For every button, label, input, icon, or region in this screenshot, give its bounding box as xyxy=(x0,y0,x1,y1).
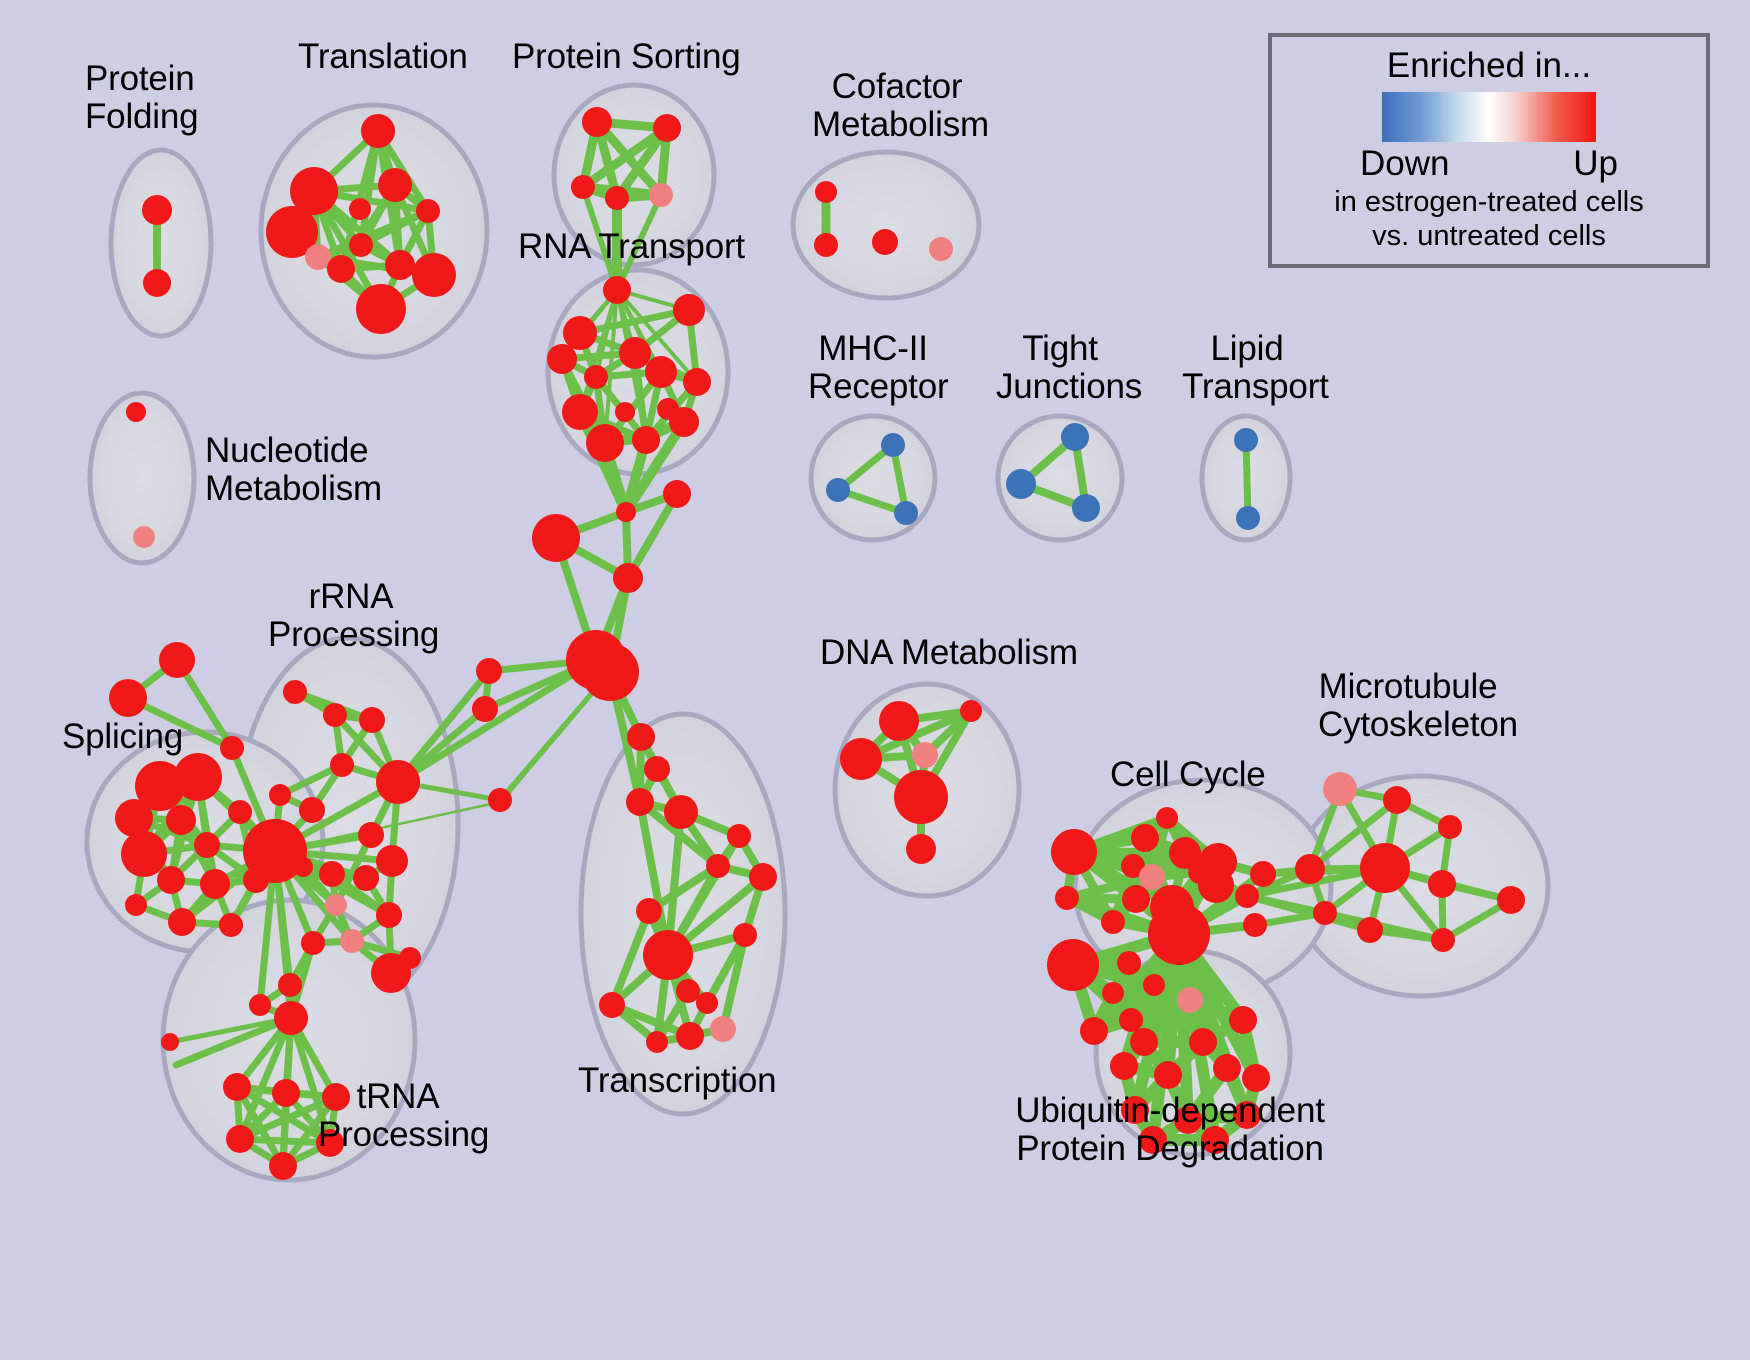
node xyxy=(143,269,171,297)
node xyxy=(894,770,948,824)
cluster-label-cofactor-metabolism: Cofactor Metabolism xyxy=(812,68,982,144)
node xyxy=(125,894,147,916)
node xyxy=(619,337,651,369)
node xyxy=(1130,1028,1158,1056)
node xyxy=(879,701,919,741)
hull-mhc xyxy=(811,416,935,540)
node xyxy=(626,788,654,816)
node xyxy=(1236,506,1260,530)
legend-endpoints: Down Up xyxy=(1360,144,1618,184)
node xyxy=(378,168,412,202)
node xyxy=(269,1152,297,1180)
cluster-label-tight-junctions: Tight Junctions xyxy=(996,330,1124,406)
node xyxy=(327,255,355,283)
cluster-label-mhc-ii-receptor: MHC-II Receptor xyxy=(808,330,938,406)
node xyxy=(814,233,838,257)
node xyxy=(727,824,751,848)
node xyxy=(1250,861,1276,887)
node xyxy=(532,514,580,562)
cluster-label-lipid-transport: Lipid Transport xyxy=(1182,330,1312,406)
cluster-label-translation: Translation xyxy=(298,38,468,76)
node xyxy=(1234,428,1258,452)
node xyxy=(159,642,195,678)
node xyxy=(872,229,898,255)
node xyxy=(657,398,679,420)
node xyxy=(1156,807,1178,829)
node xyxy=(340,929,364,953)
node xyxy=(1177,987,1203,1013)
node xyxy=(1497,886,1525,914)
node xyxy=(710,1016,736,1042)
node xyxy=(649,183,673,207)
node xyxy=(1295,854,1325,884)
node xyxy=(646,1031,668,1053)
node xyxy=(1110,1052,1138,1080)
node xyxy=(412,253,456,297)
node xyxy=(272,1079,300,1107)
legend-panel: Enriched in... Down Up in estrogen-treat… xyxy=(1268,33,1710,268)
node xyxy=(1383,786,1411,814)
node xyxy=(581,643,639,701)
node xyxy=(1360,843,1410,893)
node xyxy=(1198,867,1234,903)
node xyxy=(356,284,406,334)
node xyxy=(109,679,147,717)
node xyxy=(1189,1028,1217,1056)
node xyxy=(1055,886,1079,910)
node xyxy=(142,195,172,225)
node xyxy=(361,114,395,148)
node xyxy=(488,788,512,812)
node xyxy=(840,738,882,780)
legend-title: Enriched in... xyxy=(1387,46,1591,86)
legend-colorbar xyxy=(1382,92,1596,142)
node xyxy=(385,250,415,280)
node xyxy=(1117,951,1141,975)
node xyxy=(301,931,325,955)
node xyxy=(894,501,918,525)
node xyxy=(1242,1064,1270,1092)
node xyxy=(1438,815,1462,839)
legend-high-label: Up xyxy=(1573,144,1618,184)
cluster-label-splicing: Splicing xyxy=(62,718,183,756)
node xyxy=(283,680,307,704)
node xyxy=(676,979,700,1003)
node xyxy=(696,992,718,1014)
node xyxy=(1313,901,1337,925)
node xyxy=(220,736,244,760)
node xyxy=(1139,864,1165,890)
node xyxy=(1229,1006,1257,1034)
legend-caption-line2: vs. untreated cells xyxy=(1372,220,1606,252)
cluster-label-trna-processing: tRNA Processing xyxy=(318,1078,478,1154)
node xyxy=(1006,469,1036,499)
node xyxy=(683,368,711,396)
node xyxy=(644,756,670,782)
node xyxy=(615,402,635,422)
cluster-label-protein-sorting: Protein Sorting xyxy=(512,38,741,76)
node xyxy=(359,707,385,733)
node xyxy=(353,865,379,891)
node xyxy=(1323,772,1357,806)
node xyxy=(605,186,629,210)
node xyxy=(472,696,498,722)
node xyxy=(299,797,325,823)
cluster-label-dna-metabolism: DNA Metabolism xyxy=(820,634,1078,672)
node xyxy=(586,424,624,462)
node xyxy=(349,233,373,257)
legend-caption-line1: in estrogen-treated cells xyxy=(1334,186,1644,218)
node xyxy=(1072,494,1100,522)
node xyxy=(653,114,681,142)
node xyxy=(226,1125,254,1153)
node xyxy=(676,1022,704,1050)
node xyxy=(636,898,662,924)
node xyxy=(706,854,730,878)
node xyxy=(166,805,196,835)
node xyxy=(278,973,302,997)
node xyxy=(1061,423,1089,451)
node xyxy=(1148,903,1210,965)
node xyxy=(1428,870,1456,898)
node xyxy=(376,902,402,928)
node xyxy=(1243,913,1267,937)
cluster-label-rna-transport: RNA Transport xyxy=(518,228,745,266)
node xyxy=(663,480,691,508)
node xyxy=(547,344,577,374)
node xyxy=(616,502,636,522)
node xyxy=(223,1073,251,1101)
node xyxy=(1357,917,1383,943)
node xyxy=(1051,829,1097,875)
node xyxy=(376,845,408,877)
node xyxy=(929,237,953,261)
node xyxy=(571,175,595,199)
node xyxy=(249,994,271,1016)
network-canvas: Protein Folding Translation Protein Sort… xyxy=(0,0,1750,1360)
node xyxy=(305,244,331,270)
node xyxy=(330,753,354,777)
node xyxy=(1154,1061,1182,1089)
node xyxy=(157,866,185,894)
node xyxy=(269,784,291,806)
node xyxy=(733,923,757,947)
node xyxy=(749,863,777,891)
node xyxy=(1131,824,1159,852)
cluster-label-cell-cycle: Cell Cycle xyxy=(1110,756,1266,794)
node xyxy=(599,992,625,1018)
node xyxy=(1235,884,1259,908)
node xyxy=(1143,974,1165,996)
node xyxy=(358,822,384,848)
node xyxy=(815,181,837,203)
node xyxy=(563,316,597,350)
node xyxy=(1119,1008,1143,1032)
node xyxy=(673,294,705,326)
node xyxy=(200,869,230,899)
node xyxy=(881,433,905,457)
node xyxy=(632,426,660,454)
node xyxy=(960,700,982,722)
cluster-label-transcription: Transcription xyxy=(578,1062,776,1100)
node xyxy=(194,832,220,858)
node xyxy=(219,913,243,937)
cluster-label-rrna-processing: rRNA Processing xyxy=(268,578,434,654)
node xyxy=(562,394,598,430)
node xyxy=(293,857,313,877)
node xyxy=(319,861,345,887)
node xyxy=(376,760,420,804)
node xyxy=(645,356,677,388)
node xyxy=(613,563,643,593)
node xyxy=(416,199,440,223)
node xyxy=(1080,1017,1108,1045)
node xyxy=(627,723,655,751)
node xyxy=(121,831,167,877)
node xyxy=(1102,982,1124,1004)
node xyxy=(476,658,502,684)
node xyxy=(325,894,347,916)
node xyxy=(912,742,938,768)
cluster-label-microtubule-cytoskeleton: Microtubule Cytoskeleton xyxy=(1318,668,1498,744)
node xyxy=(161,1033,179,1051)
node xyxy=(1431,928,1455,952)
node xyxy=(349,198,371,220)
node xyxy=(323,703,347,727)
node xyxy=(582,107,612,137)
cluster-label-nucleotide-metabolism: Nucleotide Metabolism xyxy=(205,432,382,508)
node xyxy=(1213,1054,1241,1082)
hull-cofactor xyxy=(793,152,979,298)
node xyxy=(1047,939,1099,991)
legend-low-label: Down xyxy=(1360,144,1449,184)
node xyxy=(399,947,421,969)
node xyxy=(168,908,196,936)
node xyxy=(603,276,631,304)
node xyxy=(126,402,146,422)
node xyxy=(228,800,252,824)
node xyxy=(133,526,155,548)
cluster-label-protein-folding: Protein Folding xyxy=(85,60,198,136)
node xyxy=(274,1001,308,1035)
node xyxy=(826,478,850,502)
node xyxy=(664,795,698,829)
node xyxy=(906,834,936,864)
node xyxy=(1122,885,1150,913)
node xyxy=(643,930,693,980)
cluster-label-ubiquitin-protein-degradation: Ubiquitin-dependent Protein Degradation xyxy=(1000,1092,1340,1168)
node xyxy=(584,365,608,389)
node xyxy=(1101,910,1125,934)
